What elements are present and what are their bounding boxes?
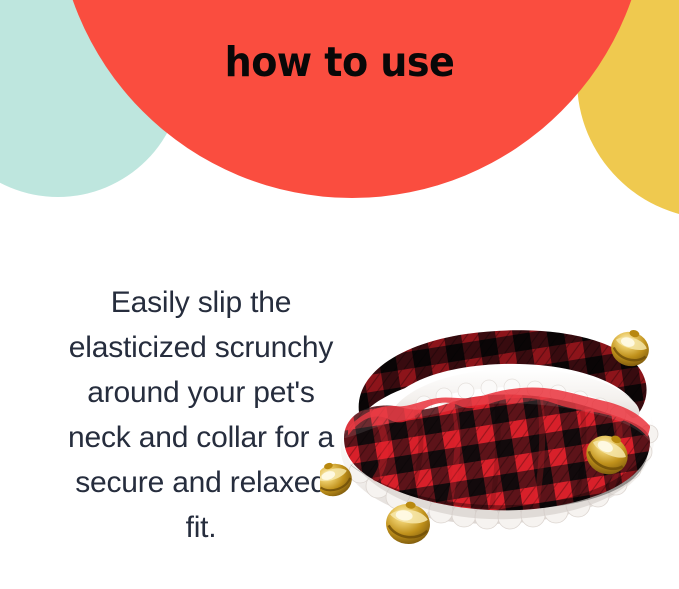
header-decoration: [0, 0, 679, 232]
content-area: Easily slip the elasticized scrunchy aro…: [0, 232, 679, 589]
page-root: how to use Easily slip the elasticized s…: [0, 0, 679, 589]
page-title: how to use: [24, 42, 655, 83]
instruction-paragraph: Easily slip the elasticized scrunchy aro…: [56, 280, 346, 550]
red-circle-shape: [56, 0, 648, 198]
product-image: [320, 314, 665, 574]
